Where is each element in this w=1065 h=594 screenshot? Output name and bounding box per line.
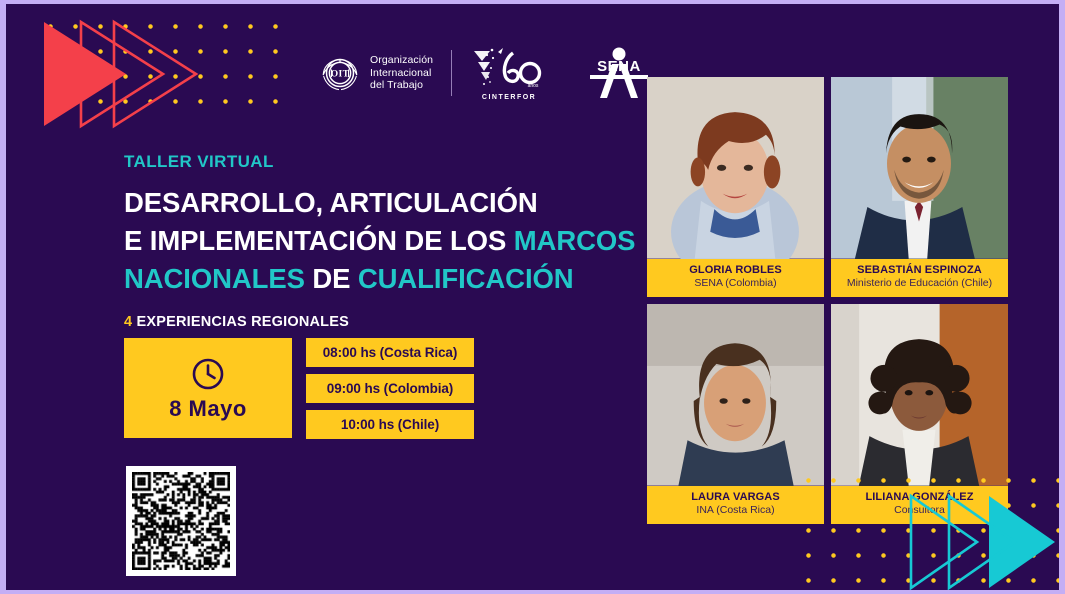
teal-triangle-arrows-decoration (869, 480, 1059, 590)
title-line-1: DESARROLLO, ARTICULACIÓN (124, 184, 644, 222)
speaker-name: GLORIA ROBLES (651, 264, 820, 278)
clock-icon (190, 356, 226, 392)
sena-logo-icon: SENA (588, 46, 650, 100)
cinterfor-60-anniversary-icon: años (470, 46, 548, 92)
speaker-org: Ministerio de Educación (Chile) (835, 277, 1004, 291)
subheadline-text: EXPERIENCIAS REGIONALES (132, 314, 349, 330)
qr-code-image (132, 472, 230, 570)
poster-canvas: OIT Organización Internacional del Traba… (6, 4, 1059, 590)
timezone-chip: 10:00 hs (Chile) (306, 410, 474, 439)
event-date: 8 Mayo (169, 396, 247, 422)
speaker-photo (831, 304, 1008, 486)
speaker-card: GLORIA ROBLES SENA (Colombia) (647, 77, 824, 297)
logo-row: OIT Organización Internacional del Traba… (318, 44, 650, 102)
title-line-2: E IMPLEMENTACIÓN DE LOS MARCOS (124, 222, 644, 260)
svg-text:SENA: SENA (597, 58, 641, 75)
speaker-org: SENA (Colombia) (651, 277, 820, 291)
cinterfor-logo-label: CINTERFOR (482, 94, 536, 101)
speaker-card: SEBASTIÁN ESPINOZA Ministerio de Educaci… (831, 77, 1008, 297)
speaker-card: LAURA VARGAS INA (Costa Rica) (647, 304, 824, 524)
oit-emblem-icon: OIT (318, 51, 362, 95)
speaker-caption: GLORIA ROBLES SENA (Colombia) (647, 259, 824, 297)
svg-text:OIT: OIT (331, 70, 350, 80)
date-card: 8 Mayo (124, 338, 292, 438)
speaker-photo (831, 77, 1008, 259)
speaker-caption: LAURA VARGAS INA (Costa Rica) (647, 486, 824, 524)
timezone-list: 08:00 hs (Costa Rica) 09:00 hs (Colombia… (306, 338, 474, 439)
oit-logo-text: Organización Internacional del Trabajo (370, 54, 433, 92)
timezone-chip: 09:00 hs (Colombia) (306, 374, 474, 403)
speaker-name: SEBASTIÁN ESPINOZA (835, 264, 1004, 278)
red-triangle-arrows-decoration (36, 14, 216, 134)
svg-text:años: años (528, 83, 539, 89)
speaker-photo (647, 304, 824, 486)
poster-frame: OIT Organización Internacional del Traba… (0, 0, 1065, 594)
speaker-grid: GLORIA ROBLES SENA (Colombia) (647, 77, 1008, 524)
sena-logo: SENA (588, 46, 650, 100)
speaker-org: INA (Costa Rica) (651, 504, 820, 518)
logo-divider (451, 50, 452, 96)
speaker-caption: SEBASTIÁN ESPINOZA Ministerio de Educaci… (831, 259, 1008, 297)
page-title: DESARROLLO, ARTICULACIÓN E IMPLEMENTACIÓ… (124, 184, 644, 298)
schedule-area: 8 Mayo 08:00 hs (Costa Rica) 09:00 hs (C… (124, 338, 474, 439)
headline-block: TALLER VIRTUAL DESARROLLO, ARTICULACIÓN … (124, 152, 644, 330)
timezone-chip: 08:00 hs (Costa Rica) (306, 338, 474, 367)
subheadline: 4 EXPERIENCIAS REGIONALES (124, 314, 644, 330)
oit-logo: OIT Organización Internacional del Traba… (318, 51, 433, 95)
qr-code[interactable] (126, 466, 236, 576)
title-line-3: NACIONALES DE CUALIFICACIÓN (124, 260, 644, 298)
eyebrow-label: TALLER VIRTUAL (124, 152, 644, 172)
speaker-name: LAURA VARGAS (651, 491, 820, 505)
speaker-photo (647, 77, 824, 259)
cinterfor-logo: años CINTERFOR (470, 46, 548, 101)
